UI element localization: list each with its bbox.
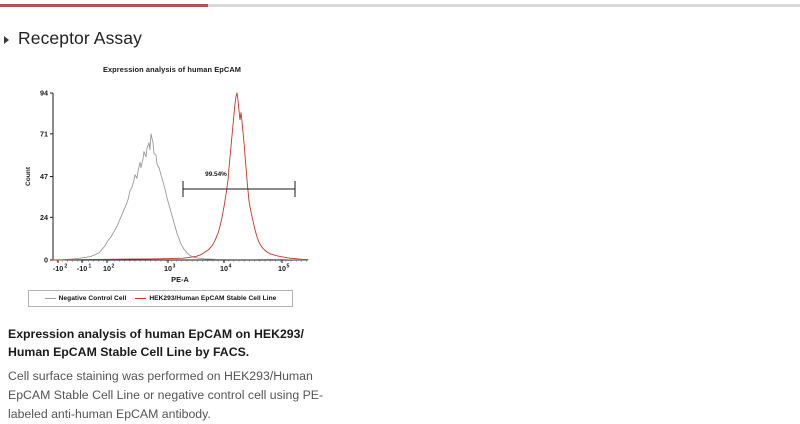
svg-text:10: 10 xyxy=(164,264,172,273)
x-axis-tick-label: 103 xyxy=(164,264,175,274)
x-axis-tick-label: 102 xyxy=(103,264,114,274)
y-axis-tick-label: 0 xyxy=(44,256,48,265)
gate-marker: 99.54% xyxy=(183,171,295,197)
facs-histogram-figure: Expression analysis of human EpCAM 02447… xyxy=(20,62,310,312)
x-axis-title: PE-A xyxy=(171,275,189,284)
svg-text:10: 10 xyxy=(220,264,228,273)
legend-swatch-icon xyxy=(45,298,56,300)
y-axis-tick-label: 47 xyxy=(40,172,48,181)
svg-text:1: 1 xyxy=(88,264,91,270)
gate-marker-label: 99.54% xyxy=(205,171,227,178)
y-axis-title: Count xyxy=(25,166,32,186)
y-axis-tick-label: 94 xyxy=(40,89,48,98)
legend-item-stable-cell-line: HEK293/Human EpCAM Stable Cell Line xyxy=(135,295,276,302)
svg-text:-10: -10 xyxy=(53,264,63,273)
legend-item-negative-control: Negative Control Cell xyxy=(45,295,127,302)
section-heading: Receptor Assay xyxy=(4,28,142,49)
legend-swatch-icon xyxy=(135,298,146,300)
page-title: Receptor Assay xyxy=(18,28,142,49)
svg-text:10: 10 xyxy=(103,264,111,273)
svg-text:10: 10 xyxy=(278,264,286,273)
y-axis-tick-label: 71 xyxy=(40,129,48,138)
svg-text:-10: -10 xyxy=(77,264,87,273)
x-axis-tick-label: 104 xyxy=(220,264,231,274)
y-axis-tick-label: 24 xyxy=(40,213,48,222)
svg-text:5: 5 xyxy=(286,264,289,270)
series-line xyxy=(53,134,308,260)
caption-title-line1: Expression analysis of human EpCAM on HE… xyxy=(8,327,304,341)
caption-body: Cell surface staining was performed on H… xyxy=(8,367,338,424)
header-divider-accent xyxy=(0,4,208,7)
x-axis-tick-label: -101 xyxy=(77,264,92,274)
svg-text:3: 3 xyxy=(172,264,175,270)
chart-legend: Negative Control Cell HEK293/Human EpCAM… xyxy=(28,290,293,307)
series-line xyxy=(53,93,308,260)
svg-text:2: 2 xyxy=(64,264,67,270)
figure-caption: Expression analysis of human EpCAM on HE… xyxy=(8,326,338,424)
triangle-right-icon xyxy=(4,36,9,44)
caption-title-line2: Human EpCAM Stable Cell Line by FACS. xyxy=(8,345,249,359)
legend-label: Negative Control Cell xyxy=(59,295,127,302)
svg-text:4: 4 xyxy=(228,264,231,270)
x-axis-tick-label: 105 xyxy=(278,264,289,274)
caption-title: Expression analysis of human EpCAM on HE… xyxy=(8,326,338,361)
svg-text:2: 2 xyxy=(111,264,114,270)
legend-label: HEK293/Human EpCAM Stable Cell Line xyxy=(149,295,276,302)
x-axis-tick-label: -102 xyxy=(53,264,68,274)
histogram-plot: 024477194Count-102-101102103104105PE-A99… xyxy=(20,62,310,312)
